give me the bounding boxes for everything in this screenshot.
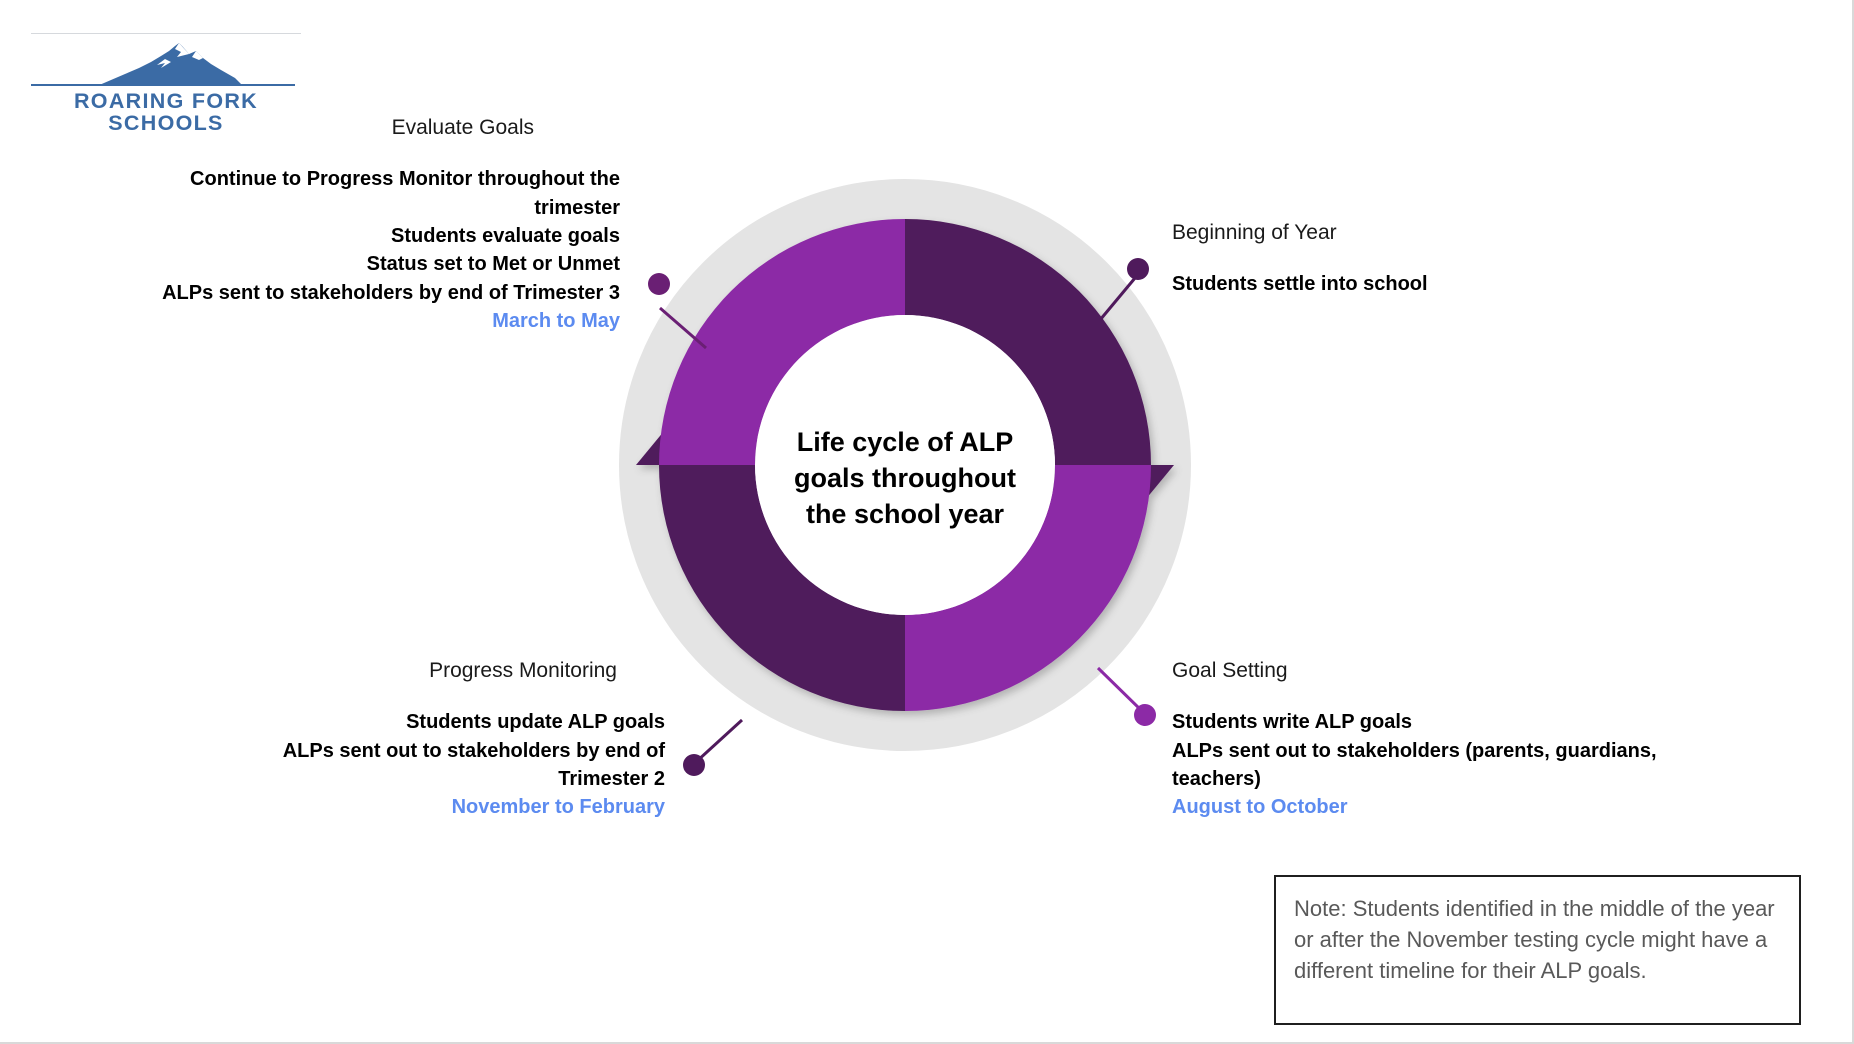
callout-goal-setting-title: Goal Setting — [1172, 658, 1772, 684]
callout-goal-setting-date: August to October — [1172, 793, 1772, 821]
callout-beginning-of-year: Beginning of Year Students settle into s… — [1172, 220, 1792, 299]
callout-evaluate-goals-body: Continue to Progress Monitor throughout … — [60, 165, 620, 335]
callout-evaluate-goals-title: Evaluate Goals — [60, 115, 620, 141]
callout-line: Continue to Progress Monitor throughout … — [60, 165, 620, 193]
callout-line: Students update ALP goals — [180, 708, 665, 736]
callout-line: Students evaluate goals — [60, 222, 620, 250]
callout-line: Students settle into school — [1172, 270, 1792, 298]
callout-line: Status set to Met or Unmet — [60, 250, 620, 278]
callout-line: Students write ALP goals — [1172, 708, 1772, 736]
callout-evaluate-goals: Evaluate Goals Continue to Progress Moni… — [60, 115, 620, 336]
callout-beginning-of-year-title: Beginning of Year — [1172, 220, 1792, 246]
callout-progress-monitoring-body: Students update ALP goals ALPs sent out … — [180, 708, 665, 822]
note-box: Note: Students identified in the middle … — [1274, 875, 1801, 1025]
callout-progress-monitoring: Progress Monitoring Students update ALP … — [180, 658, 665, 822]
leader-evaluate-goals — [648, 273, 706, 348]
callout-line: ALPs sent out to stakeholders by end of — [180, 737, 665, 765]
callout-line: teachers) — [1172, 765, 1772, 793]
callout-line: ALPs sent out to stakeholders (parents, … — [1172, 737, 1772, 765]
note-text: Note: Students identified in the middle … — [1294, 893, 1781, 987]
callout-goal-setting-body: Students write ALP goals ALPs sent out t… — [1172, 708, 1772, 822]
callout-beginning-of-year-body: Students settle into school — [1172, 270, 1792, 298]
callout-line: trimester — [60, 194, 620, 222]
callout-progress-monitoring-title: Progress Monitoring — [180, 658, 665, 684]
callout-line: ALPs sent to stakeholders by end of Trim… — [60, 279, 620, 307]
callout-evaluate-goals-date: March to May — [60, 307, 620, 335]
slide-canvas: ROARING FORK SCHOOLS — [0, 0, 1854, 1044]
callout-line: Trimester 2 — [180, 765, 665, 793]
leader-goal-setting — [1098, 668, 1156, 726]
leader-progress-monitoring — [683, 720, 742, 776]
callout-progress-monitoring-date: November to February — [180, 793, 665, 821]
leader-beginning-of-year — [1100, 258, 1149, 320]
callout-goal-setting: Goal Setting Students write ALP goals AL… — [1172, 658, 1772, 822]
